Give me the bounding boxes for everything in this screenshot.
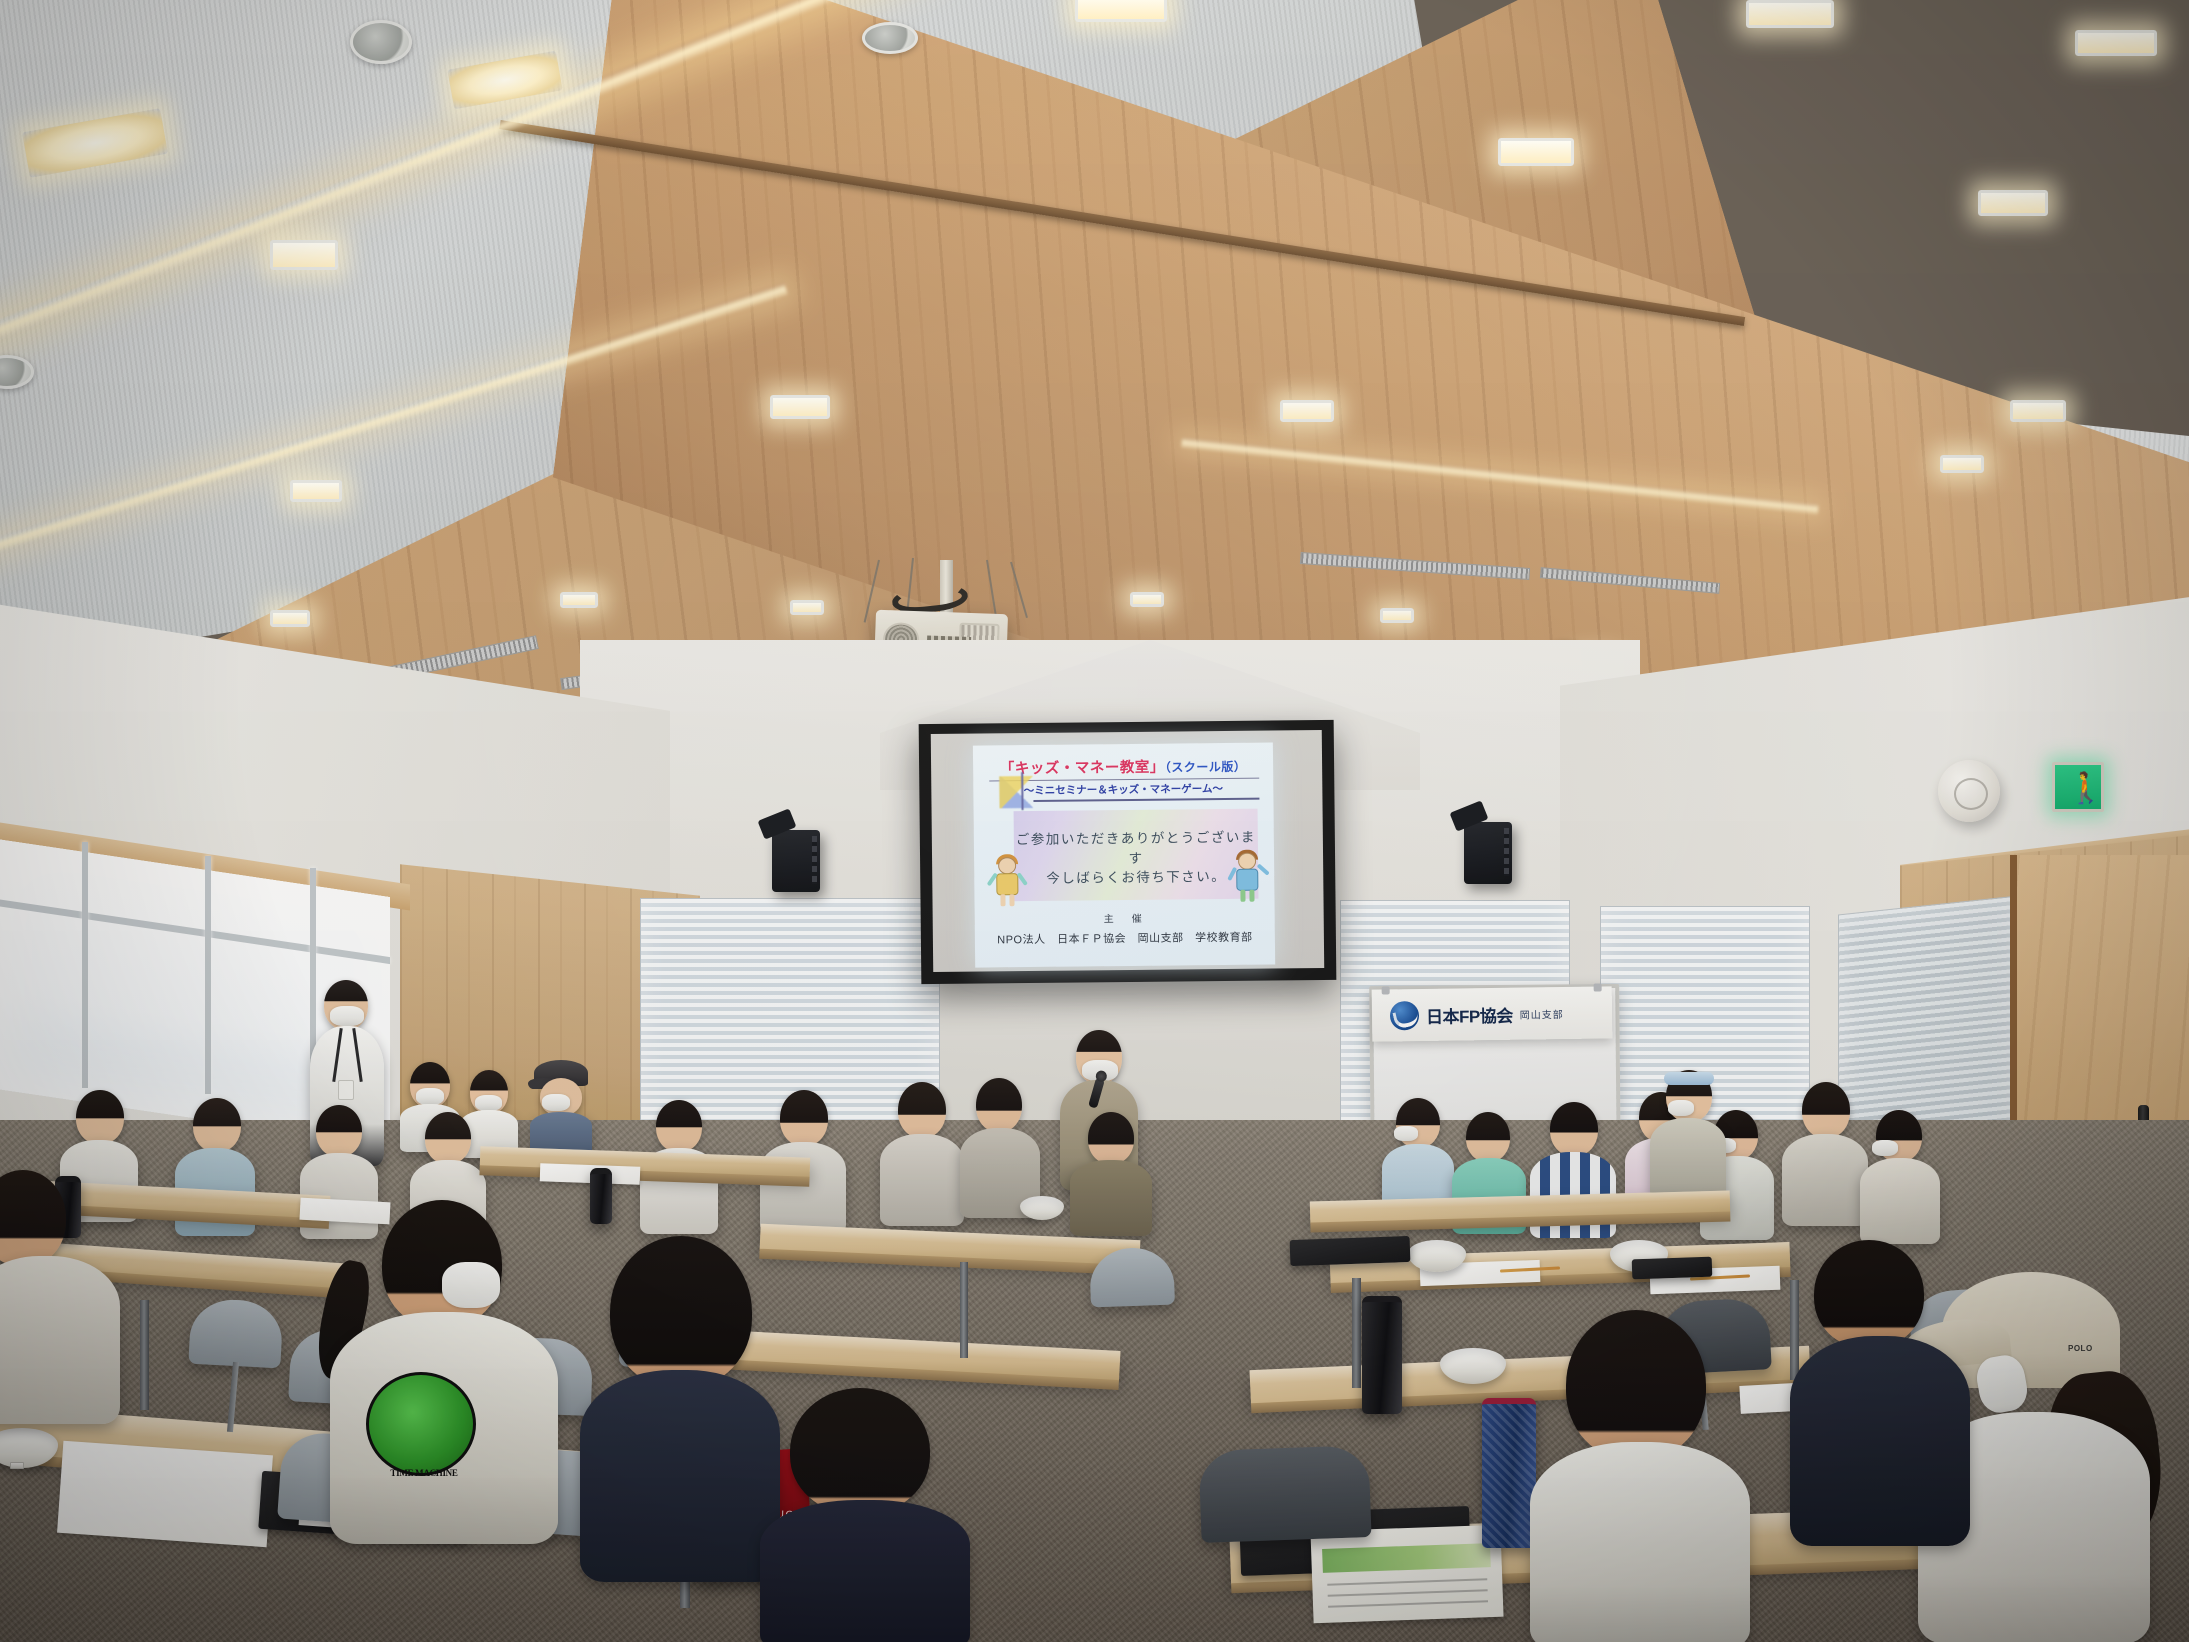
child-body: [580, 1370, 780, 1582]
banner-branch-name: 岡山支部: [1520, 1005, 1564, 1021]
worksheet-paper-1: [57, 1441, 273, 1547]
clipart-girl-body: [996, 873, 1018, 895]
attendee-mask-icon: [475, 1095, 502, 1111]
slide-host-organization: NPO法人 日本ＦＰ協会 岡山支部 学校教育部: [975, 928, 1275, 947]
seminar-room-photo: 🚶 「キッズ・マネー教室」（スクール版） ～ミニセミナー＆キッズ・マネーゲーム～…: [0, 0, 2189, 1642]
attendee-head: [780, 1090, 828, 1146]
attendee-head: [76, 1090, 124, 1144]
downlight-icon-4: [1498, 138, 1574, 166]
downlight-icon-11: [1940, 455, 1984, 473]
slide-message-line2: 今しばらくお待ち下さい。: [1014, 865, 1258, 888]
window-mullion-v1: [82, 842, 88, 1088]
water-bottle-blue: [1482, 1398, 1536, 1548]
black-folder-4: [1632, 1257, 1713, 1280]
attendee-head: [1088, 1112, 1134, 1164]
black-folder-3: [1290, 1236, 1411, 1266]
attendee-mid-l8: [960, 1078, 1040, 1214]
handout-line-3: [1328, 1601, 1488, 1609]
downlight-icon-6: [270, 240, 338, 270]
adult-body: [1790, 1336, 1970, 1546]
downlight-icon-9: [290, 480, 342, 502]
slide-title-main: 「キッズ・マネー教室」: [1000, 760, 1165, 778]
slide-host-label: 主 催: [975, 908, 1275, 926]
wall-speaker-right-icon: [1464, 822, 1512, 884]
attendee-head: [1466, 1112, 1510, 1162]
attendee-mask-icon: [416, 1088, 444, 1105]
printed-handout: [1310, 1525, 1503, 1624]
slide-clipart-girl: [990, 857, 1025, 909]
attendee-head: [1550, 1102, 1598, 1156]
child-foreground-2: [580, 1236, 780, 1566]
window-mullion-v2: [205, 856, 211, 1094]
clipart-boy-leg-left: [1240, 890, 1245, 902]
attendee-body: [1782, 1134, 1868, 1226]
handout-line-1: [1327, 1579, 1487, 1587]
exit-runner-glyph: 🚶: [2067, 772, 2093, 806]
attendee-mid-r6: [1782, 1082, 1868, 1222]
table-leg-1: [140, 1300, 149, 1410]
adult-foreground-left: [0, 1170, 120, 1420]
attendee-body: [880, 1134, 964, 1226]
attendee-body: [1070, 1160, 1152, 1236]
slide-title: 「キッズ・マネー教室」（スクール版）: [973, 754, 1273, 778]
child-foreground-center: [760, 1388, 970, 1642]
attendee-head: [425, 1112, 471, 1164]
clipart-boy-head: [1238, 853, 1256, 870]
clipart-boy-body: [1236, 869, 1258, 891]
attendee-mask-icon: [1872, 1140, 1898, 1156]
fp-association-logo-icon: [1390, 1001, 1419, 1030]
table-leg-5: [960, 1262, 968, 1358]
child-mask-icon: [442, 1262, 500, 1308]
attendee-mask-icon: [542, 1094, 570, 1111]
fp-association-banner: 日本FP協会 岡山支部: [1372, 986, 1613, 1041]
child-head: [790, 1388, 930, 1514]
adult-foreground-right: [1790, 1240, 1970, 1540]
child-tshirt-text: TIME MACHINE: [354, 1468, 494, 1478]
slide-subtitle: ～ミニセミナー＆キッズ・マネーゲーム～: [973, 780, 1273, 798]
downlight-icon-10: [1280, 400, 1334, 422]
attendee-mid-r7-headband: [1650, 1070, 1726, 1198]
banner-clip-left: [1382, 986, 1390, 994]
clipart-boy-arm-right: [1257, 863, 1270, 875]
table-leg-3: [1352, 1278, 1361, 1388]
downlight-icon-8: [770, 395, 830, 419]
water-bottle-black-2: [590, 1168, 612, 1224]
attendee-head: [1802, 1082, 1850, 1138]
clipart-girl-leg-left: [1000, 894, 1005, 906]
child-foreground-right-2: [1530, 1310, 1750, 1642]
handout-green-band: [1322, 1543, 1490, 1573]
child-cap-brand: POLO: [2068, 1344, 2093, 1353]
clipart-girl-leg-right: [1009, 894, 1014, 906]
projection-screen: 「キッズ・マネー教室」（スクール版） ～ミニセミナー＆キッズ・マネーゲーム～ ご…: [919, 720, 1337, 984]
ceiling-speaker-icon-3: [862, 22, 918, 54]
smoke-detector-icon: [1938, 760, 2000, 822]
slide-subtitle-underline: [1033, 798, 1259, 802]
downlight-icon-13: [560, 592, 598, 608]
attendee-mask-icon: [1394, 1126, 1418, 1141]
attendee-head: [656, 1100, 702, 1152]
adult-body: [0, 1256, 120, 1424]
child-body: [1530, 1442, 1750, 1642]
downlight-icon-2: [1746, 0, 1834, 28]
water-bottle-black: [1362, 1296, 1402, 1414]
attendee-head: [898, 1082, 946, 1138]
banner-org-name: 日本FP協会: [1426, 1001, 1513, 1027]
presentation-slide: 「キッズ・マネー教室」（スクール版） ～ミニセミナー＆キッズ・マネーゲーム～ ご…: [973, 742, 1275, 967]
downlight-icon-12: [270, 610, 310, 627]
chair-11[interactable]: [1198, 1445, 1371, 1543]
child-head: [610, 1236, 752, 1388]
banner-clip-right: [1594, 983, 1602, 991]
downlight-icon-5: [1978, 190, 2048, 216]
attendee-mask-icon: [1668, 1100, 1694, 1116]
child-head: [1566, 1310, 1706, 1460]
eraser-icon-1: [10, 1462, 24, 1469]
adult-head: [0, 1170, 66, 1266]
child-body: [760, 1500, 970, 1642]
child-time-machine-shirt: TIME MACHINE: [330, 1200, 560, 1540]
clipart-boy-leg-right: [1249, 890, 1254, 902]
screen-surface: 「キッズ・マネー教室」（スクール版） ～ミニセミナー＆キッズ・マネーゲーム～ ご…: [931, 730, 1324, 972]
child-tshirt-dinosaur-logo: [366, 1372, 476, 1476]
attendee-head: [976, 1078, 1022, 1132]
attendee-head: [193, 1098, 241, 1152]
attendee-back-3-hat: [530, 1060, 592, 1156]
attendee-head: [316, 1105, 362, 1157]
handout-line-2: [1328, 1590, 1488, 1598]
staff-id-badge: [338, 1080, 354, 1100]
adult-head: [1814, 1240, 1924, 1348]
attendee-mid-l9: [1070, 1112, 1152, 1232]
exit-sign-icon[interactable]: 🚶: [2052, 762, 2104, 812]
attendee-body: [1650, 1118, 1726, 1202]
downlight-icon-16: [1380, 608, 1414, 623]
downlight-icon-15: [1130, 592, 1164, 607]
ceiling-speaker-icon-1: [350, 20, 412, 64]
attendee-mid-l7: [880, 1082, 964, 1222]
slide-title-suffix: （スクール版）: [1165, 760, 1247, 775]
downlight-icon-14: [790, 600, 824, 615]
attendee-mid-r8: [1860, 1110, 1940, 1240]
slide-clipart-boy: [1230, 853, 1265, 905]
downlight-icon-7: [2010, 400, 2066, 422]
clipart-girl-head: [998, 857, 1016, 874]
attendee-headband-icon: [1664, 1072, 1714, 1085]
slide-message-line1: ご参加いただきありがとうございます: [1014, 826, 1258, 869]
downlight-icon-3: [2075, 30, 2157, 56]
staff-mask-icon: [330, 1006, 364, 1026]
wall-speaker-left-icon: [772, 830, 820, 892]
downlight-icon-1: [1075, 0, 1167, 22]
attendee-body: [1860, 1158, 1940, 1244]
